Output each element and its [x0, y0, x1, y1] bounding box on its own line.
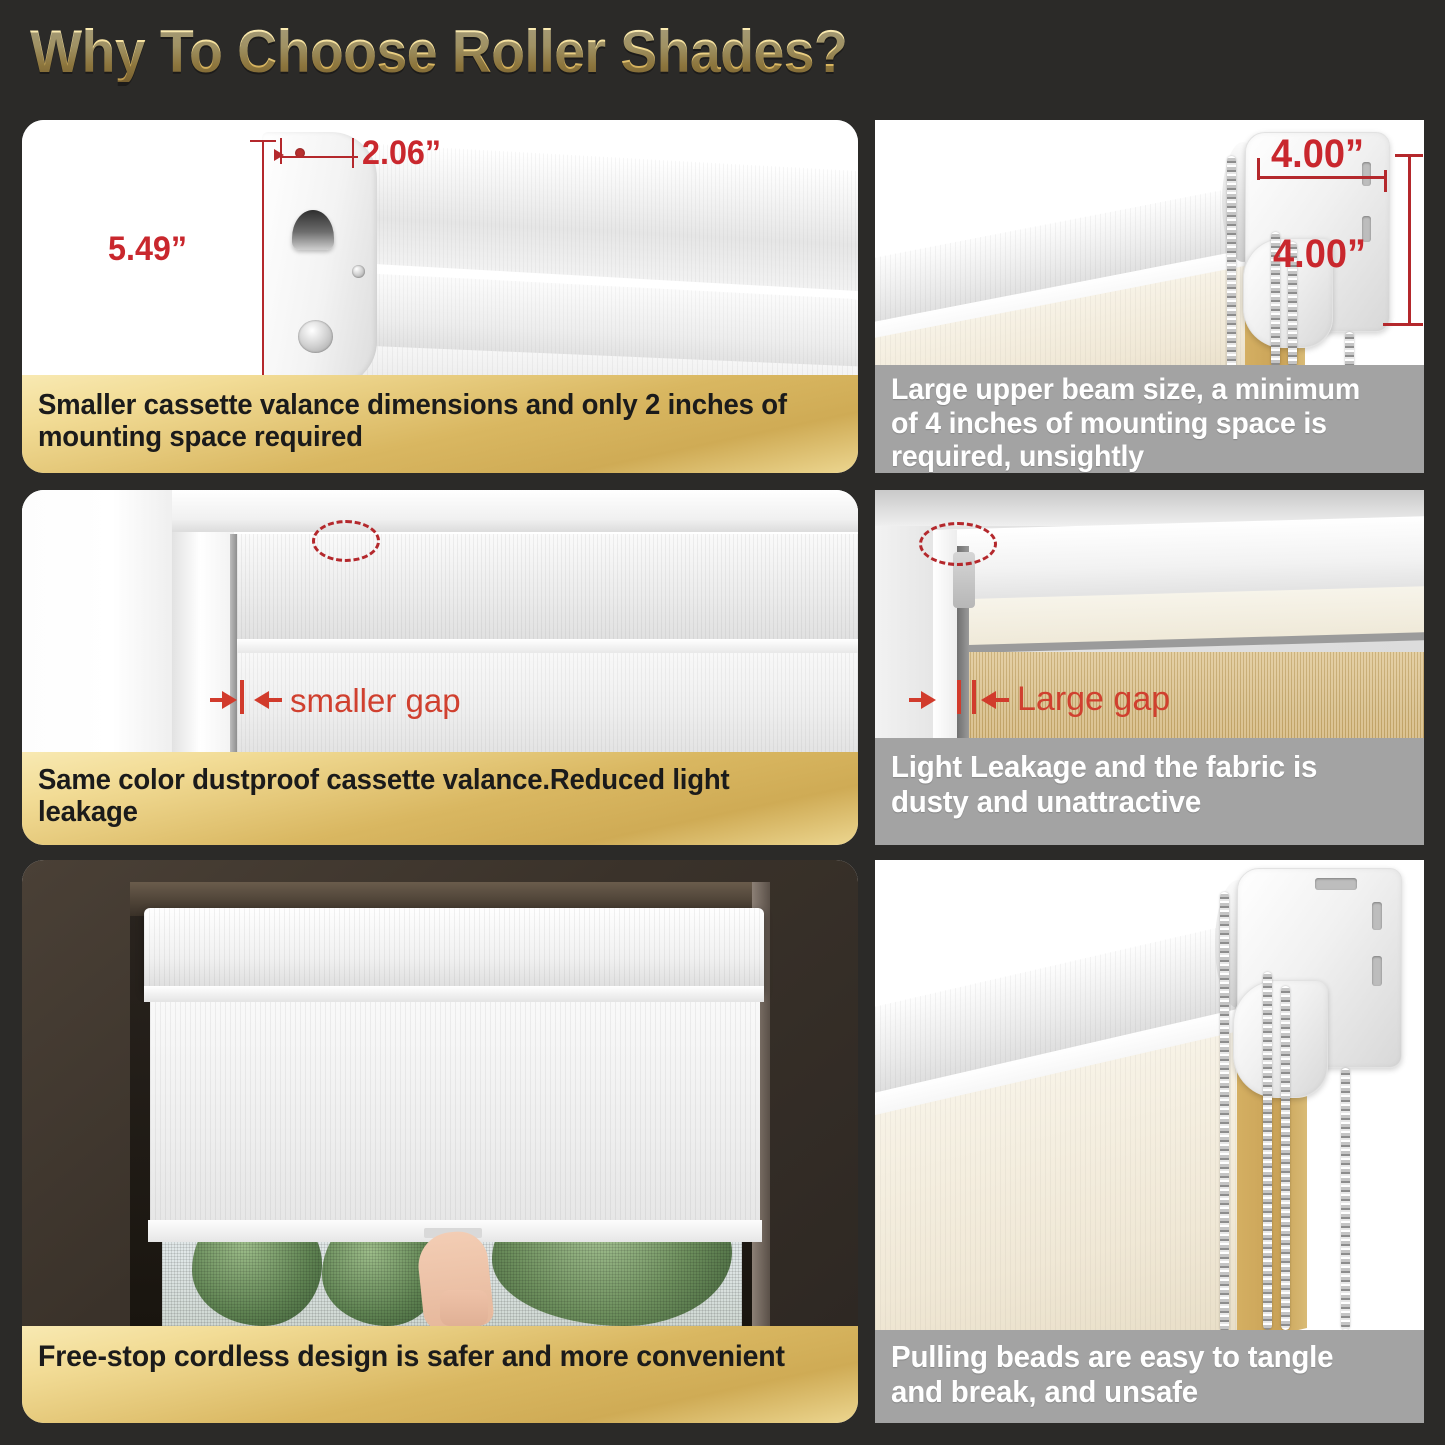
panel-5-caption: Free-stop cordless design is safer and m… [22, 1326, 858, 1423]
valance-screw-upper [352, 265, 365, 278]
dim-4v-bar [1408, 154, 1411, 326]
smaller-gap-label: smaller gap [290, 682, 461, 720]
large-gap-marker-2 [972, 680, 976, 714]
roller6-bead-chain-1 [1220, 892, 1229, 1330]
dim-4h-tick-left [1257, 158, 1260, 180]
roller6-bead-chain-4 [1341, 1068, 1350, 1330]
window-frame-left [22, 490, 187, 752]
gap-arrow-stem-left [210, 698, 224, 702]
window-head-casing [172, 490, 858, 532]
roller6-bracket-notch [1315, 878, 1357, 890]
panel-4-caption: Light Leakage and the fabric is dusty an… [875, 738, 1424, 845]
forearm [440, 1290, 488, 1326]
large-gap-label: Large gap [1017, 680, 1170, 719]
panel-cordless-design: Free-stop cordless design is safer and m… [22, 860, 858, 1423]
valance-screw-lower [298, 320, 333, 353]
gap-arrow-pointing-left [254, 691, 269, 709]
gap-arrow-stem-right [268, 698, 282, 702]
roller6-bracket-slot-lower [1372, 956, 1382, 986]
shade-side-rail [230, 534, 237, 752]
panel-6-photo [875, 860, 1424, 1330]
panel-4-caption-text: Light Leakage and the fabric is dusty an… [891, 750, 1384, 819]
panel-1-photo: 2.06” 5.49” [22, 120, 858, 375]
panel-1-caption-text: Smaller cassette valance dimensions and … [38, 389, 804, 454]
dim-4v-tick-top [1395, 154, 1423, 157]
large-gap-stem-left [909, 698, 923, 702]
dim-4h-label: 4.00” [1271, 132, 1364, 177]
leak-callout-ellipse [919, 522, 997, 566]
panel-6-caption: Pulling beads are easy to tangle and bre… [875, 1330, 1424, 1423]
dim-5.49-bar [262, 140, 264, 375]
large-gap-stem-right [995, 698, 1009, 702]
page-title: Why To Choose Roller Shades? [30, 22, 847, 82]
panel-3-photo: smaller gap [22, 490, 858, 752]
bead-chain-left [1227, 156, 1236, 365]
panel-3-caption-text: Same color dustproof cassette valance.Re… [38, 764, 804, 829]
dim-2.06-arrow [274, 149, 284, 161]
panel-large-upper-beam: 4.00” 4.00” Large upper beam size, a min… [875, 120, 1424, 473]
panel-dustproof-valance: smaller gap Same color dustproof cassett… [22, 490, 858, 845]
panel-smaller-cassette: 2.06” 5.49” Smaller cassette valance dim… [22, 120, 858, 473]
large-gap-arrow-left [981, 691, 996, 709]
panel-pulling-beads: Pulling beads are easy to tangle and bre… [875, 860, 1424, 1423]
infographic-page: Why To Choose Roller Shades? 2.06” [0, 0, 1445, 1445]
panel-2-caption: Large upper beam size, a minimum of 4 in… [875, 365, 1424, 473]
shade-headrail [144, 908, 764, 992]
large-gap-marker-1 [957, 680, 961, 714]
dim-2.06-bar [280, 156, 358, 158]
dim-5.49-tick-top [250, 140, 276, 142]
roller6-bead-chain-2 [1263, 972, 1272, 1330]
dim-5.49-label: 5.49” [108, 230, 187, 269]
roller6-bracket-slot-upper [1372, 902, 1382, 930]
gap-arrow-pointing-right [222, 691, 237, 709]
large-gap-arrow-right [921, 691, 936, 709]
panel-2-photo: 4.00” 4.00” [875, 120, 1424, 365]
panel-1-caption: Smaller cassette valance dimensions and … [22, 375, 858, 473]
dim-2.06-label: 2.06” [362, 134, 441, 173]
headrail-lip [144, 986, 764, 1002]
shade-divider-rail [235, 639, 858, 653]
dim-2.06-extension-right [352, 138, 354, 168]
shade-fabric [150, 1002, 760, 1224]
panel-4-photo: Large gap [875, 490, 1424, 738]
dim-4h-tick-right [1384, 170, 1387, 192]
panel-6-caption-text: Pulling beads are easy to tangle and bre… [891, 1340, 1384, 1409]
roller6-bead-chain-3 [1281, 986, 1290, 1330]
panel-5-caption-text: Free-stop cordless design is safer and m… [38, 1340, 804, 1374]
dim-4v-label: 4.00” [1273, 232, 1366, 277]
panel-5-photo [22, 860, 858, 1326]
panel-light-leakage: Large gap Light Leakage and the fabric i… [875, 490, 1424, 845]
bead-chain-far-right [1345, 332, 1354, 365]
dim-4v-tick-bottom [1383, 323, 1423, 326]
gap-marker-bar [240, 680, 244, 714]
panel-3-caption: Same color dustproof cassette valance.Re… [22, 752, 858, 845]
gap-callout-ellipse [312, 520, 380, 562]
panel-2-caption-text: Large upper beam size, a minimum of 4 in… [891, 373, 1384, 473]
